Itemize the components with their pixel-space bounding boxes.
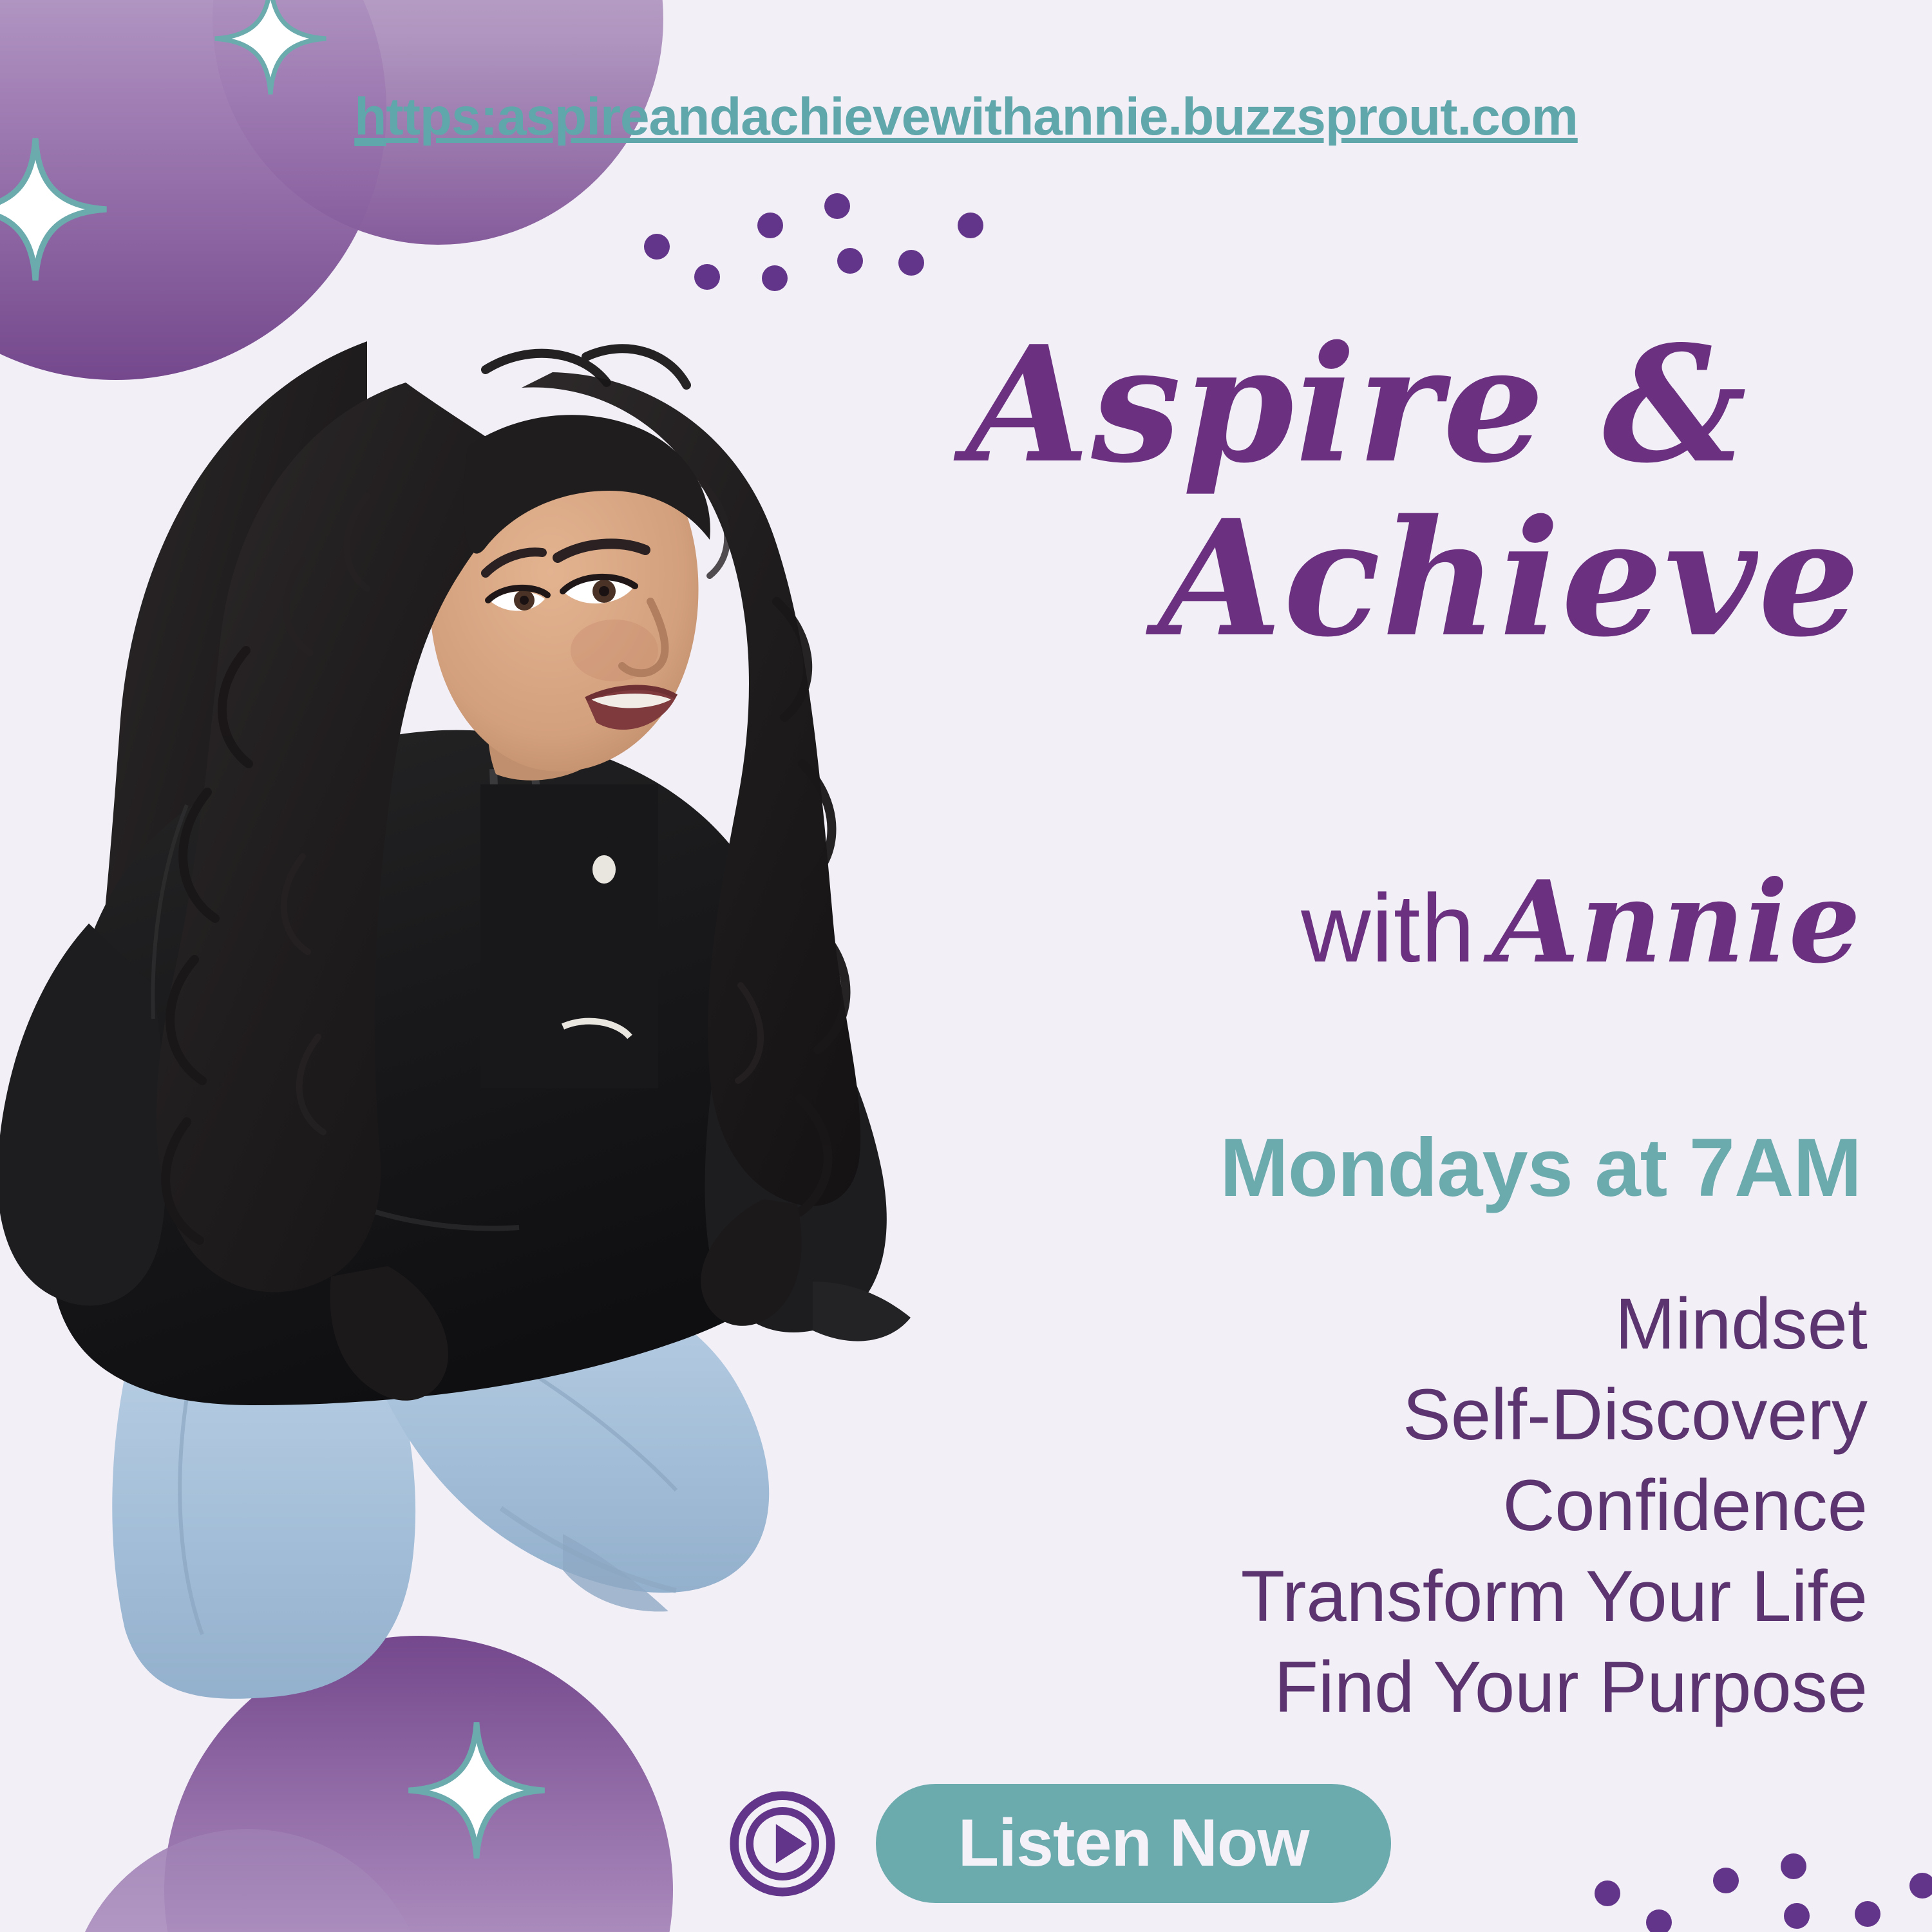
topic-item: Mindset [902,1278,1868,1369]
url-lead-char: h [354,88,386,146]
topic-item: Confidence [902,1460,1868,1551]
decorative-dot [1784,1903,1810,1929]
sparkle-icon [0,135,109,283]
decorative-dot [958,213,983,238]
podcast-url-link[interactable]: https:aspireandachievewithannie.buzzspro… [354,87,1578,147]
show-title-line-1: Aspire & [940,325,1874,485]
podcast-promo-poster: https:aspireandachievewithannie.buzzspro… [0,0,1932,1932]
sparkle-icon [406,1719,547,1861]
decorative-dot [757,213,783,238]
topic-list: MindsetSelf-DiscoveryConfidenceTransform… [902,1278,1880,1733]
topic-item: Find Your Purpose [902,1642,1868,1732]
decorative-dot [1646,1909,1672,1932]
host-byline: withAnnie [940,857,1874,989]
byline-prefix: with [1301,874,1475,982]
topic-item: Transform Your Life [902,1551,1868,1642]
play-circle-icon[interactable] [728,1789,837,1899]
show-title: Aspire & Achieve [940,325,1874,659]
podcast-url-bar: https:aspireandachievewithannie.buzzspro… [0,87,1932,147]
call-to-action-row: Listen Now [728,1784,1391,1903]
decorative-dot [1909,1873,1932,1899]
schedule-text: Mondays at 7AM [940,1121,1874,1215]
listen-now-button[interactable]: Listen Now [876,1784,1391,1903]
sparkle-icon [213,0,328,97]
decorative-dot [1595,1880,1620,1906]
decorative-dot [1713,1868,1739,1893]
url-rest: ttps:aspireandachievewithannie.buzzsprou… [386,88,1577,146]
show-title-line-2: Achieve [940,499,1874,659]
decorative-dot [644,234,670,260]
decorative-dot [1855,1901,1880,1927]
host-name: Annie [1492,857,1861,989]
topic-item: Self-Discovery [902,1369,1868,1460]
decorative-dot [824,193,850,219]
decorative-dot [1781,1853,1806,1879]
